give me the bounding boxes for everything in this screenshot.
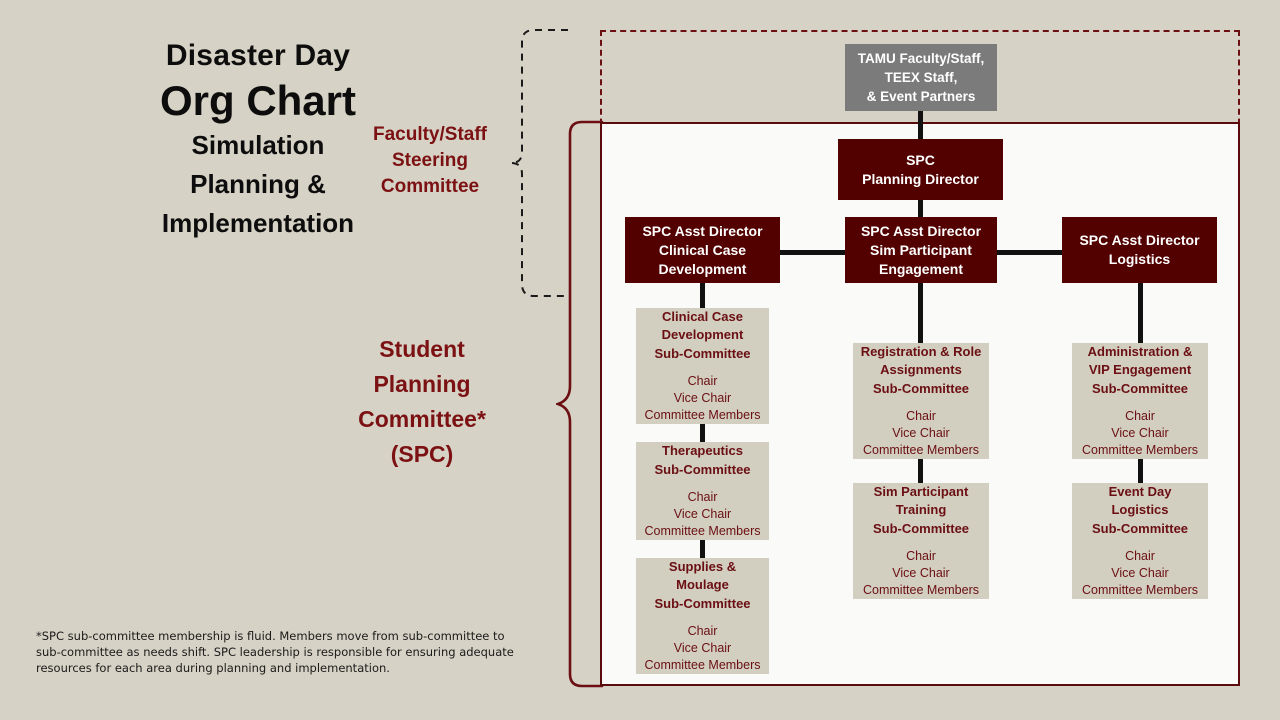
role-vice-chair: Vice Chair — [645, 640, 761, 657]
title-line-1: Disaster Day — [18, 38, 498, 74]
role-members: Committee Members — [645, 407, 761, 424]
connector-sub-clinical-to-therapeutics — [700, 424, 705, 442]
node-sub-clinical-line-3: Sub-Committee — [654, 345, 750, 364]
footnote-text: *SPC sub-committee membership is fluid. … — [36, 628, 516, 676]
spc-label-line-2: Planning — [282, 367, 562, 402]
role-members: Committee Members — [1082, 442, 1198, 459]
node-sub-admin-vip-roles: Chair Vice Chair Committee Members — [1082, 408, 1198, 459]
connector-sub-admin-to-eventday — [1138, 459, 1143, 483]
node-sub-event-day-logistics[interactable]: Event Day Logistics Sub-Committee Chair … — [1072, 483, 1208, 599]
node-sub-event-day-line-2: Logistics — [1111, 501, 1168, 520]
role-members: Committee Members — [645, 657, 761, 674]
node-sub-sim-participant-training[interactable]: Sim Participant Training Sub-Committee C… — [853, 483, 989, 599]
node-spc-planning-director[interactable]: SPC Planning Director — [838, 139, 1003, 200]
node-sub-clinical-roles: Chair Vice Chair Committee Members — [645, 373, 761, 424]
node-tamu-partners-line-2: TEEX Staff, — [885, 68, 958, 87]
role-vice-chair: Vice Chair — [863, 425, 979, 442]
title-line-3c: Implementation — [18, 204, 498, 243]
connector-sub-therapeutics-to-supplies — [700, 540, 705, 558]
student-planning-committee-label: Student Planning Committee* (SPC) — [282, 332, 562, 472]
node-tamu-partners[interactable]: TAMU Faculty/Staff, TEEX Staff, & Event … — [845, 44, 997, 111]
connector-clinical-to-sub — [700, 283, 705, 308]
node-sub-registration-line-1: Registration & Role — [861, 343, 982, 362]
role-chair: Chair — [645, 373, 761, 390]
node-asst-sim-line-2: Sim Participant — [870, 241, 972, 260]
node-asst-director-logistics[interactable]: SPC Asst Director Logistics — [1062, 217, 1217, 283]
node-sub-supplies-line-3: Sub-Committee — [654, 595, 750, 614]
node-tamu-partners-line-3: & Event Partners — [867, 87, 976, 106]
role-chair: Chair — [645, 623, 761, 640]
connector-partners-to-director — [918, 110, 923, 140]
node-sub-sim-training-line-1: Sim Participant — [874, 483, 969, 502]
role-vice-chair: Vice Chair — [1082, 425, 1198, 442]
role-vice-chair: Vice Chair — [645, 390, 761, 407]
role-chair: Chair — [645, 489, 761, 506]
node-sub-sim-training-line-2: Training — [896, 501, 947, 520]
spc-label-line-4: (SPC) — [282, 437, 562, 472]
node-sub-clinical-line-2: Development — [662, 326, 744, 345]
node-sub-supplies-roles: Chair Vice Chair Committee Members — [645, 623, 761, 674]
node-asst-sim-line-3: Engagement — [879, 260, 963, 279]
node-tamu-partners-line-1: TAMU Faculty/Staff, — [858, 49, 985, 68]
spc-label-line-1: Student — [282, 332, 562, 367]
connector-sub-registration-to-training — [918, 459, 923, 483]
node-sub-clinical-line-1: Clinical Case — [662, 308, 743, 327]
role-vice-chair: Vice Chair — [863, 565, 979, 582]
connector-sim-to-sub — [918, 283, 923, 343]
node-asst-sim-line-1: SPC Asst Director — [861, 222, 981, 241]
role-vice-chair: Vice Chair — [645, 506, 761, 523]
role-members: Committee Members — [645, 523, 761, 540]
node-sub-therapeutics[interactable]: Therapeutics Sub-Committee Chair Vice Ch… — [636, 442, 769, 540]
node-sub-registration-line-2: Assignments — [880, 361, 962, 380]
node-sub-registration-role-assignments[interactable]: Registration & Role Assignments Sub-Comm… — [853, 343, 989, 459]
org-chart-slide: Disaster Day Org Chart Simulation Planni… — [0, 0, 1280, 720]
node-asst-clinical-line-2: Clinical Case — [659, 241, 746, 260]
node-asst-logistics-line-1: SPC Asst Director — [1079, 231, 1199, 250]
node-sub-therapeutics-roles: Chair Vice Chair Committee Members — [645, 489, 761, 540]
connector-asst-horizontal-right — [995, 250, 1063, 255]
role-members: Committee Members — [1082, 582, 1198, 599]
role-chair: Chair — [863, 408, 979, 425]
spc-brace — [556, 118, 606, 690]
node-asst-director-clinical-case[interactable]: SPC Asst Director Clinical Case Developm… — [625, 217, 780, 283]
node-sub-event-day-roles: Chair Vice Chair Committee Members — [1082, 548, 1198, 599]
role-members: Committee Members — [863, 582, 979, 599]
node-sub-admin-vip-line-2: VIP Engagement — [1089, 361, 1191, 380]
node-sub-supplies-line-2: Moulage — [676, 576, 729, 595]
node-sub-registration-roles: Chair Vice Chair Committee Members — [863, 408, 979, 459]
node-asst-logistics-line-2: Logistics — [1109, 250, 1170, 269]
connector-asst-horizontal-left — [779, 250, 846, 255]
node-sub-sim-training-roles: Chair Vice Chair Committee Members — [863, 548, 979, 599]
node-sub-event-day-line-1: Event Day — [1109, 483, 1172, 502]
node-sub-clinical-case-development[interactable]: Clinical Case Development Sub-Committee … — [636, 308, 769, 424]
node-spc-planning-director-line-2: Planning Director — [862, 170, 979, 189]
node-asst-clinical-line-1: SPC Asst Director — [642, 222, 762, 241]
node-spc-planning-director-line-1: SPC — [906, 151, 935, 170]
node-sub-therapeutics-line-2: Sub-Committee — [654, 461, 750, 480]
role-chair: Chair — [1082, 408, 1198, 425]
title-line-2: Org Chart — [18, 76, 498, 126]
node-sub-admin-vip-line-1: Administration & — [1088, 343, 1193, 362]
role-chair: Chair — [863, 548, 979, 565]
node-sub-event-day-line-3: Sub-Committee — [1092, 520, 1188, 539]
node-asst-director-sim-participant[interactable]: SPC Asst Director Sim Participant Engage… — [845, 217, 997, 283]
node-sub-supplies-moulage[interactable]: Supplies & Moulage Sub-Committee Chair V… — [636, 558, 769, 674]
node-sub-registration-line-3: Sub-Committee — [873, 380, 969, 399]
role-chair: Chair — [1082, 548, 1198, 565]
connector-logistics-to-sub — [1138, 283, 1143, 343]
node-sub-admin-vip-line-3: Sub-Committee — [1092, 380, 1188, 399]
node-sub-sim-training-line-3: Sub-Committee — [873, 520, 969, 539]
node-sub-supplies-line-1: Supplies & — [669, 558, 736, 577]
role-vice-chair: Vice Chair — [1082, 565, 1198, 582]
node-asst-clinical-line-3: Development — [659, 260, 747, 279]
node-sub-administration-vip-engagement[interactable]: Administration & VIP Engagement Sub-Comm… — [1072, 343, 1208, 459]
spc-label-line-3: Committee* — [282, 402, 562, 437]
node-sub-therapeutics-line-1: Therapeutics — [662, 442, 743, 461]
role-members: Committee Members — [863, 442, 979, 459]
